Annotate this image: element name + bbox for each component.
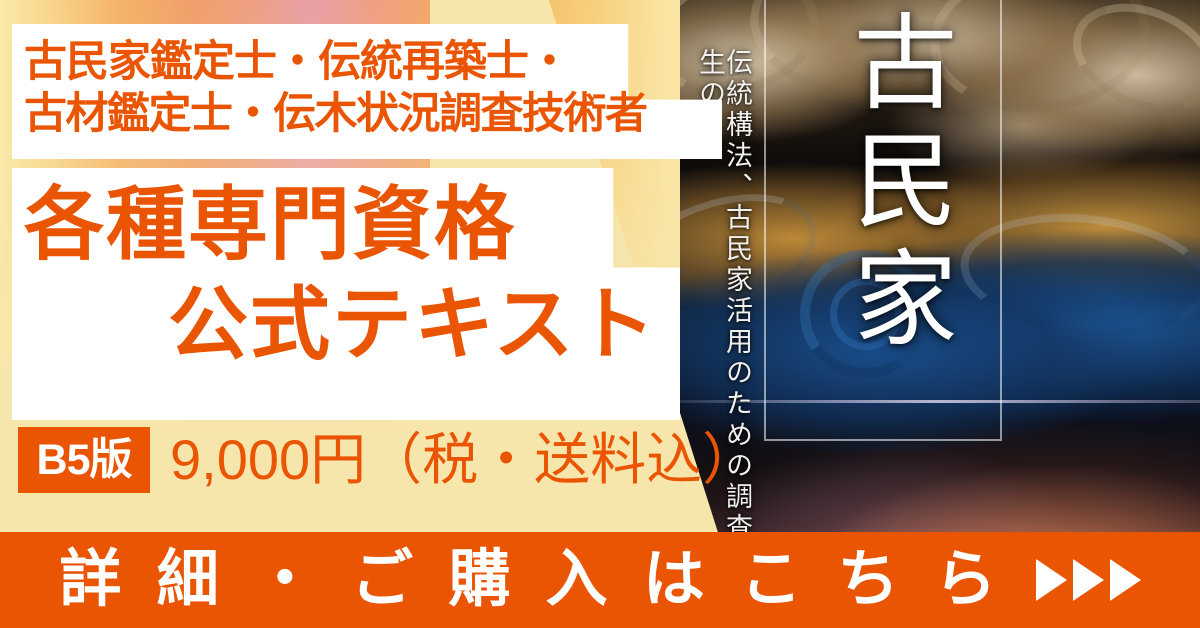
triangle-right-icon: [1110, 559, 1141, 601]
cta-arrow-group: [1036, 559, 1141, 601]
format-badge: B5版: [18, 427, 150, 493]
cta-label: 詳 細 ・ ご 購 入 は こ ち ら: [59, 549, 1005, 611]
headline-text: 古民家鑑定士・伝統再築士・ 古材鑑定士・伝木状況調査技術者: [14, 26, 714, 156]
headline-line-1: 古民家鑑定士・伝統再築士・: [24, 36, 714, 88]
headline-line-2: 古材鑑定士・伝木状況調査技術者: [24, 88, 714, 140]
triangle-right-icon: [1036, 559, 1067, 601]
title-line-2: 公式テキスト: [168, 285, 658, 365]
book-cover-title: 古民家: [842, 8, 946, 362]
title-line-1: 各種専門資格: [24, 185, 516, 265]
triangle-right-icon: [1073, 559, 1104, 601]
price-text: 9,000円（税・送料込）: [170, 429, 758, 491]
promo-banner[interactable]: 古民家 伝統構法、古民家活用のための調査と再生の 古民家鑑定士・伝統再築士・ 古…: [0, 0, 1200, 628]
cta-bar[interactable]: 詳 細 ・ ご 購 入 は こ ち ら: [0, 532, 1200, 628]
